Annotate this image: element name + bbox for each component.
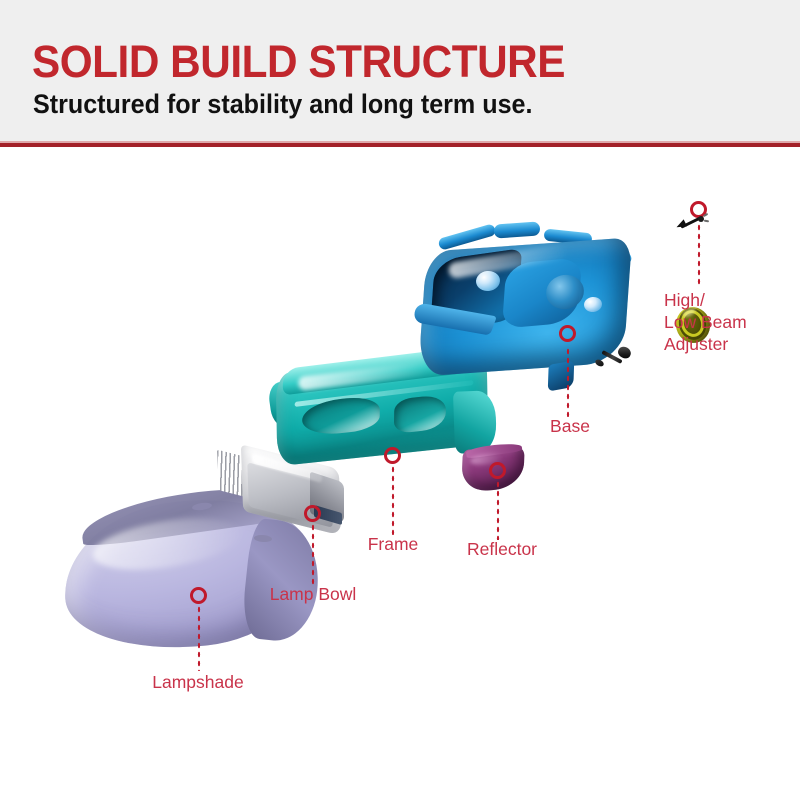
label-adjuster-line2: Low Beam [664,312,747,333]
part-adjuster-screw [594,345,634,371]
callout-marker-frame [384,447,401,464]
label-frame: Frame [368,534,419,555]
callout-marker-lamp-bowl [304,505,321,522]
page-subtitle: Structured for stability and long term u… [33,88,532,120]
pointer-arrow-head [675,219,687,231]
callout-line-lamp-bowl [311,523,315,585]
callout-marker-lampshade [190,587,207,604]
callout-line-base [566,347,570,417]
base-bottom-stub [548,360,575,391]
label-base: Base [550,416,590,437]
product-feature-card: SOLID BUILD STRUCTURE Structured for sta… [0,0,800,800]
callout-line-adjuster [697,223,701,287]
part-base [408,217,638,407]
page-title: SOLID BUILD STRUCTURE [32,36,565,88]
label-lampshade: Lampshade [152,672,243,693]
callout-marker-base [559,325,576,342]
spark-line-2 [704,220,709,222]
label-reflector: Reflector [467,539,537,560]
callout-line-frame [391,465,395,535]
callout-line-reflector [496,480,500,540]
label-adjuster-line3: Adjuster [664,334,728,355]
exploded-view-diagram: Lampshade Lamp Bowl Frame [0,147,800,800]
callout-line-lampshade [197,605,201,671]
spark-line-1 [703,213,708,217]
adjuster-pointer-icon [676,213,708,233]
label-adjuster-line1: High/ [664,290,705,311]
label-lamp-bowl: Lamp Bowl [270,584,357,605]
base-mount-arm-2 [494,221,541,238]
screw-tip [594,358,605,368]
callout-marker-reflector [489,462,506,479]
header-banner: SOLID BUILD STRUCTURE Structured for sta… [0,0,800,147]
